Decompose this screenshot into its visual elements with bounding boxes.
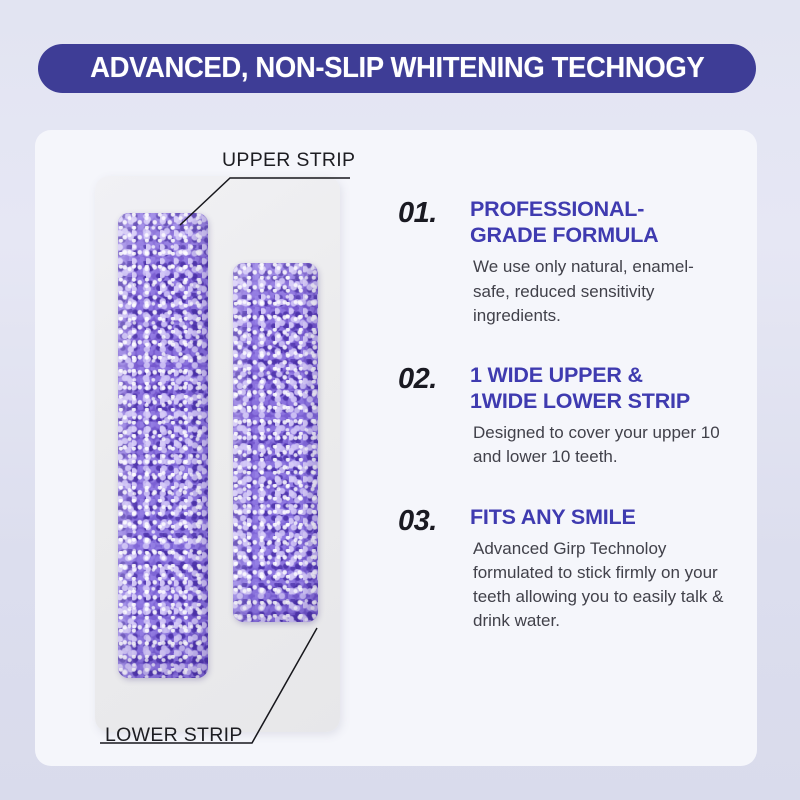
lower-strip-shading xyxy=(233,263,318,622)
lower-strip-label: LOWER STRIP xyxy=(105,724,243,747)
infographic-page: ADVANCED, NON-SLIP WHITENING TECHNOGY UP… xyxy=(0,0,800,800)
feature-2-title-line-1: 1 WIDE UPPER & xyxy=(470,362,728,388)
feature-list: 01. PROFESSIONAL- GRADE FORMULA We use o… xyxy=(398,196,728,667)
feature-1-title: PROFESSIONAL- GRADE FORMULA xyxy=(470,196,728,248)
feature-1-title-line-2: GRADE FORMULA xyxy=(470,222,728,248)
lower-strip-image xyxy=(233,263,318,622)
page-title: ADVANCED, NON-SLIP WHITENING TECHNOGY xyxy=(90,52,704,85)
feature-3-body: FITS ANY SMILE Advanced Girp Technoloy f… xyxy=(470,504,728,634)
header-banner: ADVANCED, NON-SLIP WHITENING TECHNOGY xyxy=(38,44,756,93)
feature-3-title: FITS ANY SMILE xyxy=(470,504,728,530)
feature-1-description: We use only natural, enamel-safe, reduce… xyxy=(470,255,728,327)
feature-2-title: 1 WIDE UPPER & 1WIDE LOWER STRIP xyxy=(470,362,728,414)
upper-strip-shading xyxy=(118,213,208,678)
feature-2-title-line-2: 1WIDE LOWER STRIP xyxy=(470,388,728,414)
feature-2-number: 02. xyxy=(398,362,470,397)
feature-2-description: Designed to cover your upper 10 and lowe… xyxy=(470,421,728,469)
feature-1-number: 01. xyxy=(398,196,470,231)
feature-item-2: 02. 1 WIDE UPPER & 1WIDE LOWER STRIP Des… xyxy=(398,362,728,470)
feature-2-body: 1 WIDE UPPER & 1WIDE LOWER STRIP Designe… xyxy=(470,362,728,470)
feature-3-title-line-1: FITS ANY SMILE xyxy=(470,504,728,530)
upper-strip-label: UPPER STRIP xyxy=(222,149,355,172)
feature-1-title-line-1: PROFESSIONAL- xyxy=(470,196,728,222)
feature-3-number: 03. xyxy=(398,504,470,539)
upper-strip-image xyxy=(118,213,208,678)
feature-item-3: 03. FITS ANY SMILE Advanced Girp Technol… xyxy=(398,504,728,634)
feature-3-description: Advanced Girp Technoloy formulated to st… xyxy=(470,537,728,634)
feature-1-body: PROFESSIONAL- GRADE FORMULA We use only … xyxy=(470,196,728,328)
feature-item-1: 01. PROFESSIONAL- GRADE FORMULA We use o… xyxy=(398,196,728,328)
